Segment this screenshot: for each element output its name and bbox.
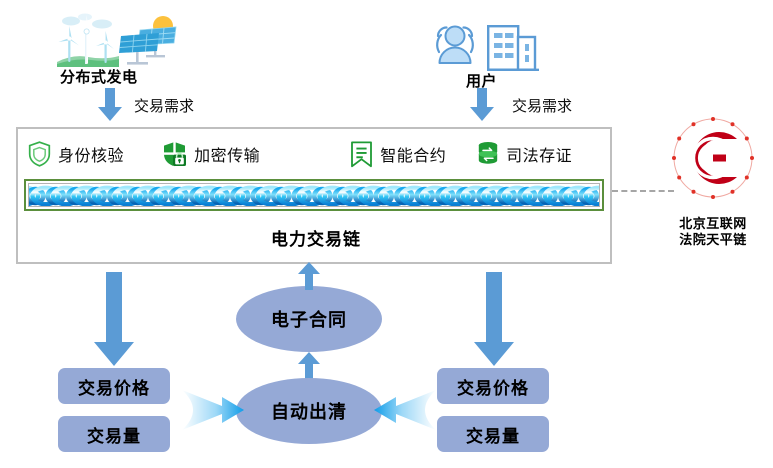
distributed-generation-icons	[55, 12, 175, 70]
distributed-generation-label: 分布式发电	[60, 66, 138, 87]
solar-panel-icon	[119, 14, 179, 70]
diagram-canvas: 分布式发电 交易需求 用户	[0, 0, 773, 468]
building-icon	[487, 25, 539, 71]
feature-label: 智能合约	[380, 142, 446, 166]
court-caption-line2: 法院天平链	[659, 232, 767, 248]
shield-icon	[28, 141, 51, 167]
chain-title: 电力交易链	[18, 225, 614, 250]
feature-encrypted-transfer[interactable]: 加密传输	[162, 141, 316, 167]
electronic-contract-node[interactable]: 电子合同	[236, 286, 382, 352]
left-trade-price-label: 交易价格	[78, 374, 150, 399]
contract-document-icon	[350, 141, 373, 168]
wind-turbine-icon	[55, 12, 121, 70]
shield-lock-icon	[162, 141, 187, 167]
user-demand-arrow	[469, 88, 495, 127]
generation-demand-arrow	[97, 88, 123, 127]
court-caption: 北京互联网 法院天平链	[659, 216, 767, 248]
user-demand-label: 交易需求	[512, 95, 572, 116]
left-trade-volume-box[interactable]: 交易量	[58, 416, 170, 452]
electronic-contract-label: 电子合同	[271, 306, 347, 332]
right-inputs-to-clearing-arrow	[372, 386, 436, 439]
auto-clearing-label: 自动出清	[271, 398, 347, 424]
contract-to-chain-arrow	[296, 262, 322, 295]
arrow-down-icon	[469, 88, 495, 122]
chain-links-graphic	[29, 184, 600, 207]
left-trade-price-box[interactable]: 交易价格	[58, 368, 170, 404]
left-inputs-to-clearing-arrow	[182, 386, 246, 439]
right-trade-price-box[interactable]: 交易价格	[437, 368, 549, 404]
arrow-up-icon	[296, 352, 322, 380]
feature-label: 加密传输	[194, 142, 260, 166]
power-trading-chain-panel: 身份核验 加密传输	[16, 127, 612, 264]
right-trade-volume-label: 交易量	[466, 422, 520, 447]
arrow-right-gradient-icon	[182, 386, 246, 434]
generation-demand-label: 交易需求	[134, 95, 194, 116]
feature-smart-contract[interactable]: 智能合约	[350, 141, 477, 168]
people-icon	[428, 22, 482, 72]
arrow-left-gradient-icon	[372, 386, 436, 434]
auto-clearing-node[interactable]: 自动出清	[236, 378, 382, 444]
arrow-up-icon	[296, 262, 322, 290]
blockchain-chain-box	[24, 179, 604, 211]
blockchain-chain-icon	[28, 183, 600, 207]
arrow-down-icon	[472, 272, 516, 368]
user-icons	[428, 22, 544, 72]
arrow-down-icon	[92, 272, 136, 368]
right-trade-price-label: 交易价格	[457, 374, 529, 399]
left-flow-arrow	[92, 272, 136, 373]
feature-label: 司法存证	[506, 142, 572, 166]
chain-feature-row: 身份核验 加密传输	[28, 137, 604, 171]
beijing-internet-court-logo	[659, 113, 767, 209]
feature-label: 身份核验	[58, 142, 124, 166]
feature-identity-verification[interactable]: 身份核验	[28, 141, 162, 167]
arrow-down-icon	[97, 88, 123, 122]
beijing-internet-court-block: 北京互联网 法院天平链	[659, 113, 767, 243]
court-caption-line1: 北京互联网	[659, 216, 767, 232]
right-trade-volume-box[interactable]: 交易量	[437, 416, 549, 452]
left-trade-volume-label: 交易量	[87, 422, 141, 447]
right-flow-arrow	[472, 272, 516, 373]
database-icon	[477, 141, 499, 168]
feature-judicial-evidence[interactable]: 司法存证	[477, 141, 604, 168]
